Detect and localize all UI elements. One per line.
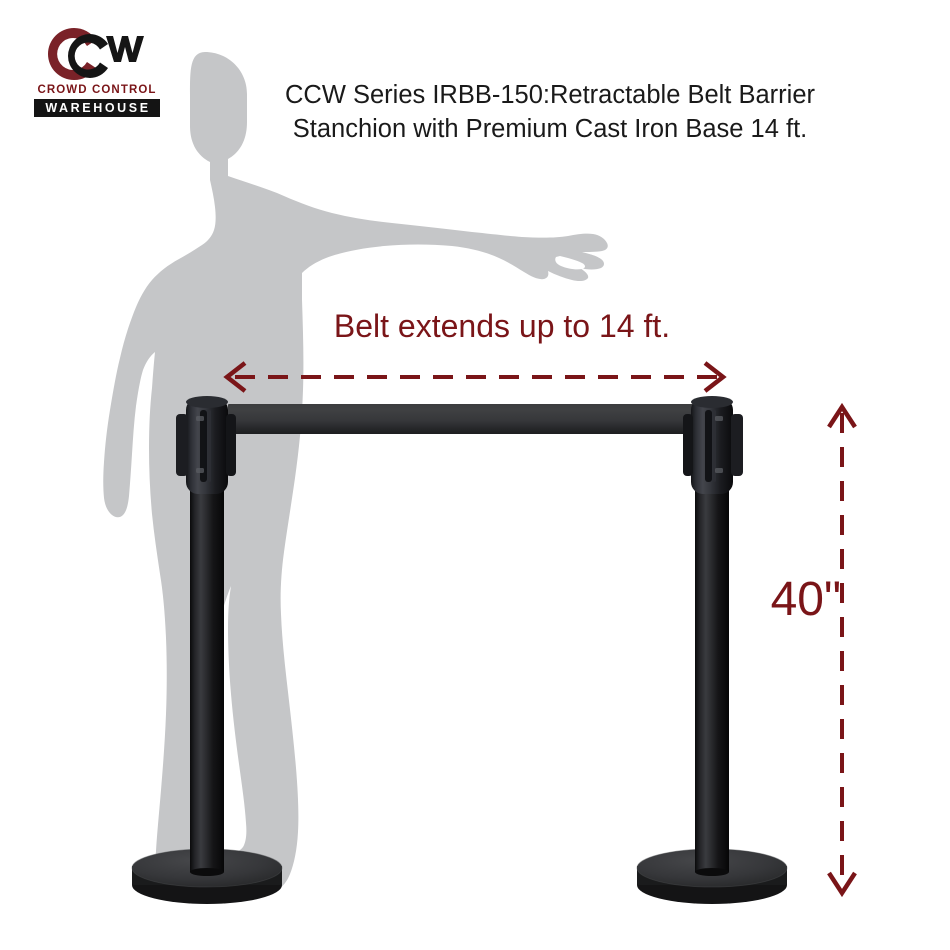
product-title: CCW Series IRBB-150:Retractable Belt Bar…: [190, 78, 910, 146]
left-stanchion-belt-head: [176, 396, 236, 494]
left-stanchion[interactable]: [122, 390, 292, 910]
product-title-line-1: CCW Series IRBB-150:Retractable Belt Bar…: [190, 78, 910, 112]
product-image-canvas: CROWD CONTROL WAREHOUSE CCW Series IRBB-…: [0, 0, 950, 950]
right-stanchion[interactable]: [627, 390, 797, 910]
ccw-monogram-icon: [40, 26, 148, 82]
product-title-line-2: Stanchion with Premium Cast Iron Base 14…: [190, 112, 910, 146]
right-stanchion-post: [695, 430, 729, 872]
logo-wordmark-bottom: WAREHOUSE: [34, 99, 160, 117]
logo-wordmark-top: CROWD CONTROL: [34, 84, 160, 96]
brand-logo[interactable]: CROWD CONTROL WAREHOUSE: [34, 26, 160, 118]
vertical-dimension-arrow-icon: [800, 395, 890, 905]
belt-extent-label: Belt extends up to 14 ft.: [262, 308, 742, 345]
right-stanchion-belt-head: [683, 396, 743, 494]
left-stanchion-post: [190, 430, 224, 872]
